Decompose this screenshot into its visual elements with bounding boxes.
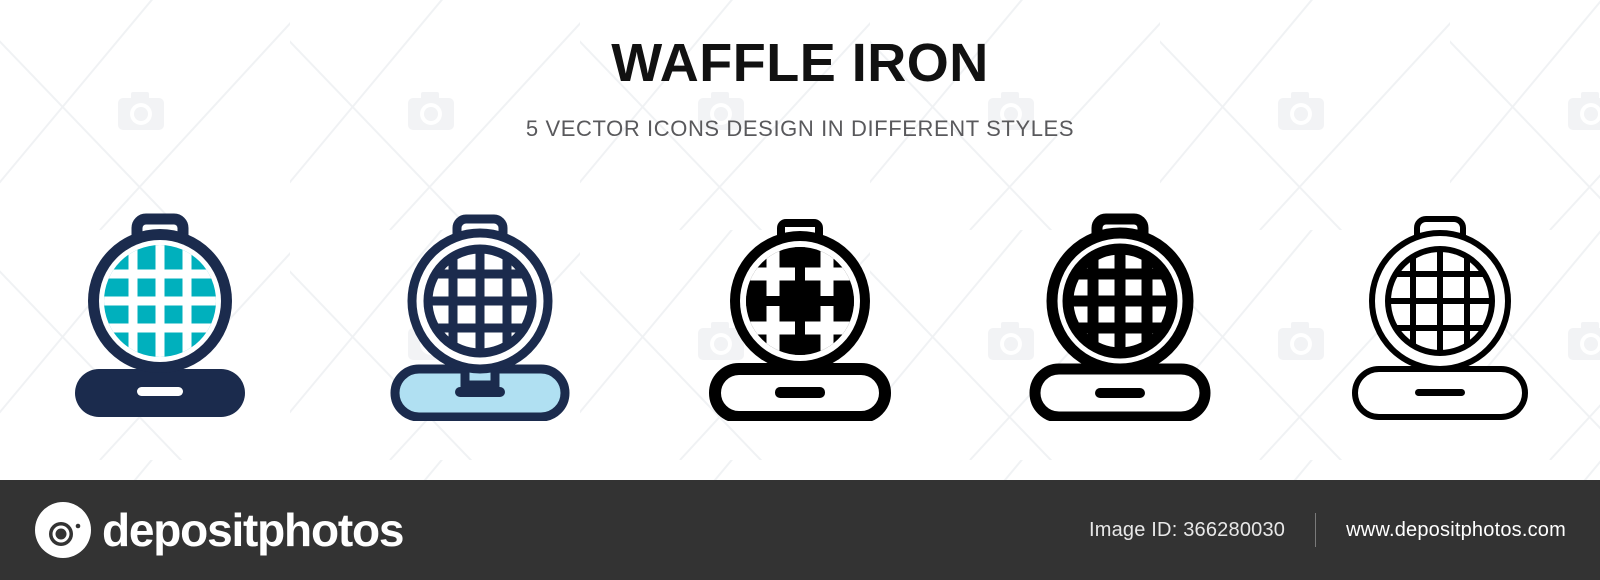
icon-waffle-iron-outline-bold-black[interactable] <box>1010 206 1230 426</box>
footer-divider <box>1315 513 1316 547</box>
waffle-iron-icon <box>385 211 575 421</box>
icon-waffle-iron-outline-thin-black[interactable] <box>1330 206 1550 426</box>
footer-meta: Image ID: 366280030 www.depositphotos.co… <box>1089 513 1566 547</box>
waffle-iron-icon <box>65 211 255 421</box>
image-id-label: Image ID: 366280030 <box>1089 519 1285 542</box>
icon-waffle-iron-outline-two-tone[interactable] <box>370 206 590 426</box>
waffle-iron-icon <box>1345 211 1535 421</box>
page-title: WAFFLE IRON <box>0 36 1600 90</box>
waffle-iron-icon <box>1025 211 1215 421</box>
icon-waffle-iron-glyph-black[interactable] <box>690 206 910 426</box>
stock-image-canvas: WAFFLE IRON 5 VECTOR ICONS DESIGN IN DIF… <box>0 0 1600 580</box>
depositphotos-logo[interactable]: depositphotos <box>34 501 403 559</box>
icon-variants-row <box>0 196 1600 436</box>
page-subtitle: 5 VECTOR ICONS DESIGN IN DIFFERENT STYLE… <box>0 118 1600 140</box>
header: WAFFLE IRON 5 VECTOR ICONS DESIGN IN DIF… <box>0 0 1600 140</box>
icon-waffle-iron-filled-two-tone[interactable] <box>50 206 270 426</box>
waffle-iron-icon <box>705 211 895 421</box>
depositphotos-footer-bar: depositphotos Image ID: 366280030 www.de… <box>0 480 1600 580</box>
camera-icon <box>34 501 92 559</box>
brand-name: depositphotos <box>102 507 403 553</box>
site-url-link[interactable]: www.depositphotos.com <box>1346 519 1566 542</box>
